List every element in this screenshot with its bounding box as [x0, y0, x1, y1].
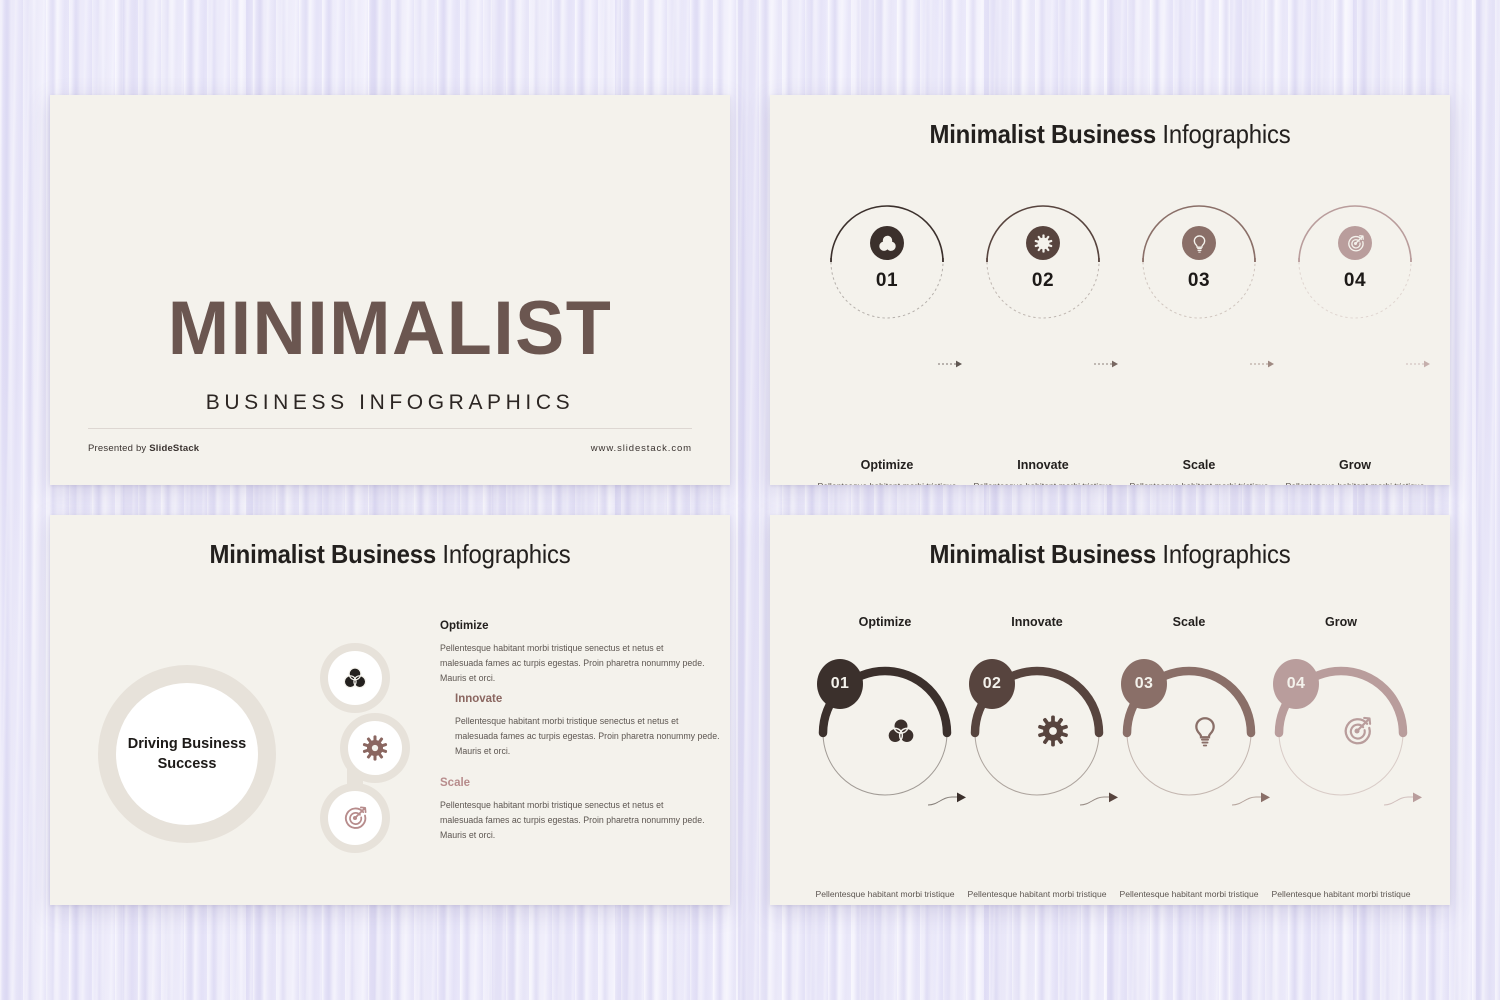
flow-label-1: Optimize	[810, 615, 960, 629]
step-card-3[interactable]: 03ScalePellentesque habitant morbi trist…	[1124, 200, 1274, 320]
heading-normal: Infographics	[1156, 539, 1291, 569]
chain-node-1[interactable]	[320, 643, 390, 713]
lightbulb-icon	[1182, 226, 1216, 260]
step-number-2: 02	[983, 270, 1103, 292]
flow-number-badge-2: 02	[969, 659, 1015, 709]
step-ring-2: 02	[983, 200, 1103, 320]
step-ring-1: 01	[827, 200, 947, 320]
step-description-3: Pellentesque habitant morbi tristique se…	[1119, 480, 1279, 485]
step-ring-4: 04	[1295, 200, 1415, 320]
slide-heading: Minimalist Business Infographics	[77, 539, 703, 570]
step-label-1: Optimize	[812, 458, 962, 472]
step-number-3: 03	[1139, 270, 1259, 292]
flow-number-badge-3: 03	[1121, 659, 1167, 709]
slide-hub-chain[interactable]: Minimalist Business Infographics Driving…	[50, 515, 730, 905]
flow-ring-2: 02	[962, 651, 1112, 801]
step-arrow-3	[1250, 356, 1276, 374]
slide-numbered-flow[interactable]: Minimalist Business Infographics Optimiz…	[770, 515, 1450, 905]
flow-description-2: Pellentesque habitant morbi tristique se…	[956, 887, 1118, 905]
footer-brand: SlideStack	[149, 443, 199, 454]
chain-text-block-2: InnovatePellentesque habitant morbi tris…	[455, 693, 723, 759]
flow-label-3: Scale	[1114, 615, 1264, 629]
step-arrow-4	[1406, 356, 1432, 374]
step-label-4: Grow	[1280, 458, 1430, 472]
chain-item-label-3: Scale	[440, 777, 708, 789]
flow-card-2[interactable]: Innovate02Pellentesque habitant morbi tr…	[962, 615, 1112, 801]
step-number-1: 01	[827, 270, 947, 292]
step-label-3: Scale	[1124, 458, 1274, 472]
flow-arrow-4	[1384, 791, 1426, 812]
flow-label-4: Grow	[1266, 615, 1416, 629]
step-card-4[interactable]: 04GrowPellentesque habitant morbi tristi…	[1280, 200, 1430, 320]
hub-circle[interactable]: Driving Business Success	[98, 665, 276, 843]
step-card-1[interactable]: 01OptimizePellentesque habitant morbi tr…	[812, 200, 962, 320]
flow-card-1[interactable]: Optimize01Pellentesque habitant morbi tr…	[810, 615, 960, 801]
divider	[88, 428, 692, 429]
step-description-1: Pellentesque habitant morbi tristique se…	[807, 480, 967, 485]
chain-item-description-3: Pellentesque habitant morbi tristique se…	[440, 798, 708, 843]
slide-four-circle-steps[interactable]: Minimalist Business Infographics 01Optim…	[770, 95, 1450, 485]
chain-item-label-1: Optimize	[440, 620, 708, 632]
heading-bold: Minimalist Business	[929, 119, 1155, 149]
chain-text-block-1: OptimizePellentesque habitant morbi tris…	[440, 620, 708, 686]
heading-bold: Minimalist Business	[209, 539, 435, 569]
flow-card-3[interactable]: Scale03Pellentesque habitant morbi trist…	[1114, 615, 1264, 801]
gear-icon	[1026, 226, 1060, 260]
flow-number-badge-4: 04	[1273, 659, 1319, 709]
footer-prefix: Presented by	[88, 443, 149, 454]
step-description-2: Pellentesque habitant morbi tristique se…	[963, 480, 1123, 485]
step-arrow-2	[1094, 356, 1120, 374]
chain-node-3[interactable]	[320, 783, 390, 853]
flow-ring-3: 03	[1114, 651, 1264, 801]
heading-normal: Infographics	[1156, 119, 1291, 149]
step-arrow-1	[938, 356, 964, 374]
gear-icon	[348, 721, 402, 775]
step-label-2: Innovate	[968, 458, 1118, 472]
flow-ring-4: 04	[1266, 651, 1416, 801]
flow-label-2: Innovate	[962, 615, 1112, 629]
slide-heading: Minimalist Business Infographics	[797, 119, 1423, 150]
chain-item-description-1: Pellentesque habitant morbi tristique se…	[440, 641, 708, 686]
chain-item-label-2: Innovate	[455, 693, 723, 705]
venn-circles-icon	[870, 226, 904, 260]
slide-title[interactable]: MINIMALIST BUSINESS INFOGRAPHICS Present…	[50, 95, 730, 485]
chain-node-2[interactable]	[340, 713, 410, 783]
footer-website: www.slidestack.com	[591, 443, 692, 454]
chain-text-block-3: ScalePellentesque habitant morbi tristiq…	[440, 777, 708, 843]
flow-description-1: Pellentesque habitant morbi tristique se…	[804, 887, 966, 905]
step-description-4: Pellentesque habitant morbi tristique se…	[1275, 480, 1435, 485]
flow-number-badge-1: 01	[817, 659, 863, 709]
page-subtitle: BUSINESS INFOGRAPHICS	[50, 391, 730, 415]
target-icon	[1338, 226, 1372, 260]
flow-description-4: Pellentesque habitant morbi tristique se…	[1260, 887, 1422, 905]
chain-item-description-2: Pellentesque habitant morbi tristique se…	[455, 714, 723, 759]
step-number-4: 04	[1295, 270, 1415, 292]
slide-heading: Minimalist Business Infographics	[797, 539, 1423, 570]
heading-bold: Minimalist Business	[929, 539, 1155, 569]
flow-description-3: Pellentesque habitant morbi tristique se…	[1108, 887, 1270, 905]
step-card-2[interactable]: 02InnovatePellentesque habitant morbi tr…	[968, 200, 1118, 320]
heading-normal: Infographics	[436, 539, 571, 569]
flow-ring-1: 01	[810, 651, 960, 801]
target-icon	[328, 791, 382, 845]
footer-presented-by: Presented by SlideStack	[88, 443, 199, 454]
flow-card-4[interactable]: Grow04Pellentesque habitant morbi tristi…	[1266, 615, 1416, 801]
page-title: MINIMALIST	[60, 291, 720, 367]
step-ring-3: 03	[1139, 200, 1259, 320]
venn-circles-icon	[328, 651, 382, 705]
hub-label: Driving Business Success	[116, 683, 258, 825]
